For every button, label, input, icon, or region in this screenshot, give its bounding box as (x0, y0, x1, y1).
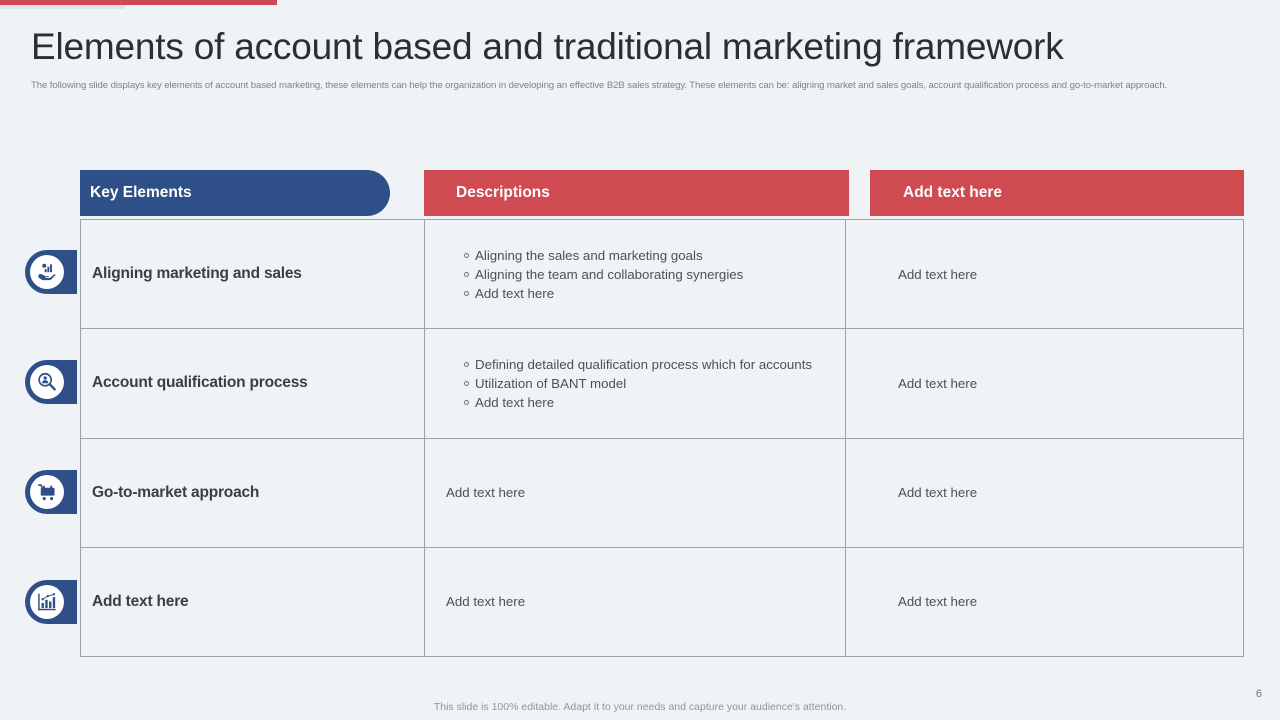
list-item: Defining detailed qualification process … (464, 355, 812, 374)
hand-growth-chart-icon (30, 255, 64, 289)
column-header-add-text-label: Add text here (903, 184, 1002, 202)
column-header-add-text: Add text here (870, 170, 1244, 216)
magnifier-person-icon (30, 365, 64, 399)
list-item: Aligning the sales and marketing goals (464, 246, 743, 265)
list-item: Utilization of BANT model (464, 374, 812, 393)
description-text: Add text here (446, 593, 525, 611)
page-subtitle: The following slide displays key element… (31, 79, 1191, 93)
cell-description: Aligning the sales and marketing goals A… (425, 220, 846, 328)
cell-extra: Add text here (846, 329, 1243, 437)
page-number: 6 (1256, 688, 1262, 700)
column-header-descriptions: Descriptions (424, 170, 849, 216)
top-accent-bar-grey (0, 5, 125, 9)
row-icon-badge-1 (25, 250, 77, 294)
cell-description: Add text here (425, 439, 846, 547)
elements-table: Aligning marketing and sales Aligning th… (80, 219, 1244, 657)
column-header-key-elements-label: Key Elements (90, 184, 192, 202)
list-item: Aligning the team and collaborating syne… (464, 265, 743, 284)
list-item: Add text here (464, 393, 812, 412)
page-title: Elements of account based and traditiona… (31, 24, 1241, 70)
bar-chart-icon (30, 585, 64, 619)
column-header-descriptions-label: Descriptions (456, 184, 550, 202)
cell-key-element: Aligning marketing and sales (81, 220, 425, 328)
table-header-row: Key Elements Descriptions Add text here (80, 170, 1244, 216)
row-icon-badge-3 (25, 470, 77, 514)
table-row: Account qualification process Defining d… (81, 329, 1243, 438)
table-row: Go-to-market approach Add text here Add … (81, 439, 1243, 548)
description-bullet-list: Defining detailed qualification process … (446, 355, 812, 412)
description-text: Add text here (446, 484, 525, 502)
shopping-cart-icon (30, 475, 64, 509)
cell-extra: Add text here (846, 439, 1243, 547)
footer-note: This slide is 100% editable. Adapt it to… (0, 701, 1280, 713)
table-row: Add text here Add text here Add text her… (81, 548, 1243, 656)
table-row: Aligning marketing and sales Aligning th… (81, 220, 1243, 329)
row-icon-badge-2 (25, 360, 77, 404)
cell-key-element: Add text here (81, 548, 425, 656)
cell-key-element: Account qualification process (81, 329, 425, 437)
cell-key-element: Go-to-market approach (81, 439, 425, 547)
list-item: Add text here (464, 284, 743, 303)
description-bullet-list: Aligning the sales and marketing goals A… (446, 246, 743, 303)
cell-description: Add text here (425, 548, 846, 656)
cell-extra: Add text here (846, 220, 1243, 328)
cell-description: Defining detailed qualification process … (425, 329, 846, 437)
row-icon-badge-4 (25, 580, 77, 624)
cell-extra: Add text here (846, 548, 1243, 656)
column-header-key-elements: Key Elements (80, 170, 390, 216)
